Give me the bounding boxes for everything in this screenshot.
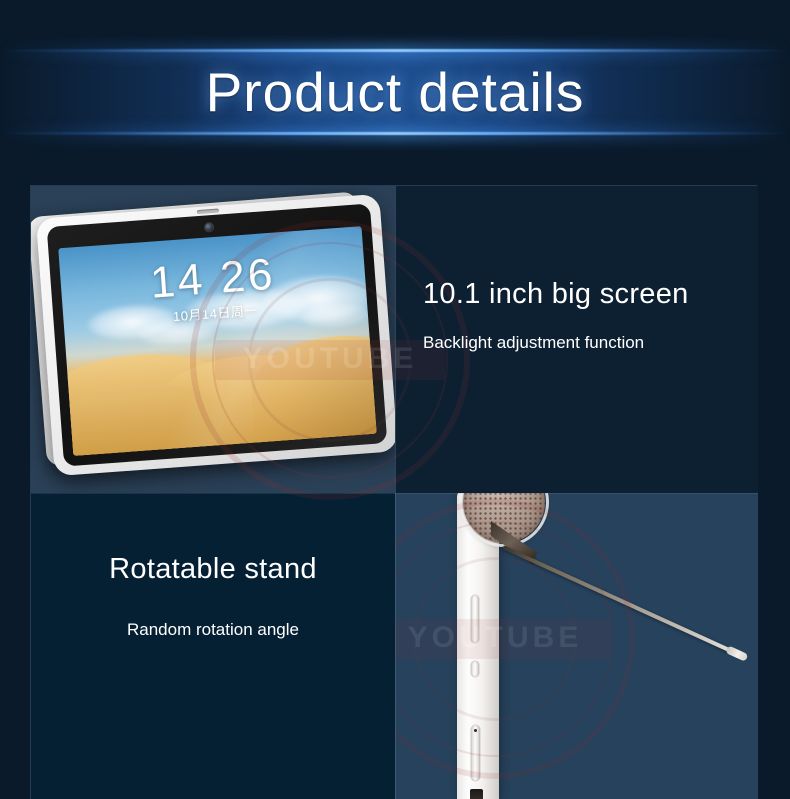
panel-stand-feature: Rotatable stand Random rotation angle (31, 493, 395, 799)
page-header-banner: Product details (0, 0, 790, 165)
page-title: Product details (0, 52, 790, 132)
sim-eject-pinhole-icon (474, 729, 477, 732)
feature-grid: 14 26 10月14日周一 10.1 inch big screen Back… (30, 185, 757, 799)
volume-button-icon (471, 595, 479, 643)
product-details-page: Product details (0, 0, 790, 799)
screen-feature-subtext: Backlight adjustment function (423, 333, 689, 353)
screen-glare-overlay (58, 226, 376, 456)
panel-screen-feature: 10.1 inch big screen Backlight adjustmen… (395, 186, 758, 493)
earpiece-speaker-icon (197, 209, 219, 215)
stand-feature-heading: Rotatable stand (31, 553, 395, 586)
sim-card-slot-icon (471, 725, 480, 781)
kickstand-arm-tip (725, 645, 748, 661)
stand-feature-subtext: Random rotation angle (31, 620, 395, 640)
tablet-device: 14 26 10月14日周一 (36, 194, 395, 477)
kickstand-arm-icon (502, 545, 742, 657)
panel-tablet-photo: 14 26 10月14日周一 (31, 186, 395, 493)
stand-scene (395, 493, 758, 799)
panel-stand-photo: YOUTUBE (395, 493, 758, 799)
stand-feature-text: Rotatable stand Random rotation angle (31, 553, 395, 640)
screen-feature-heading: 10.1 inch big screen (423, 278, 689, 311)
tablet-bezel: 14 26 10月14日周一 (47, 203, 388, 466)
power-button-icon (471, 661, 479, 677)
screen-feature-text: 10.1 inch big screen Backlight adjustmen… (423, 278, 689, 353)
tablet-screen: 14 26 10月14日周一 (58, 226, 376, 456)
grid-horizontal-divider (31, 493, 758, 494)
usb-port-icon (470, 789, 483, 799)
tablet-scene: 14 26 10月14日周一 (31, 186, 395, 493)
banner-glow-line-bottom (0, 132, 790, 135)
camera-lens-icon (205, 223, 214, 232)
